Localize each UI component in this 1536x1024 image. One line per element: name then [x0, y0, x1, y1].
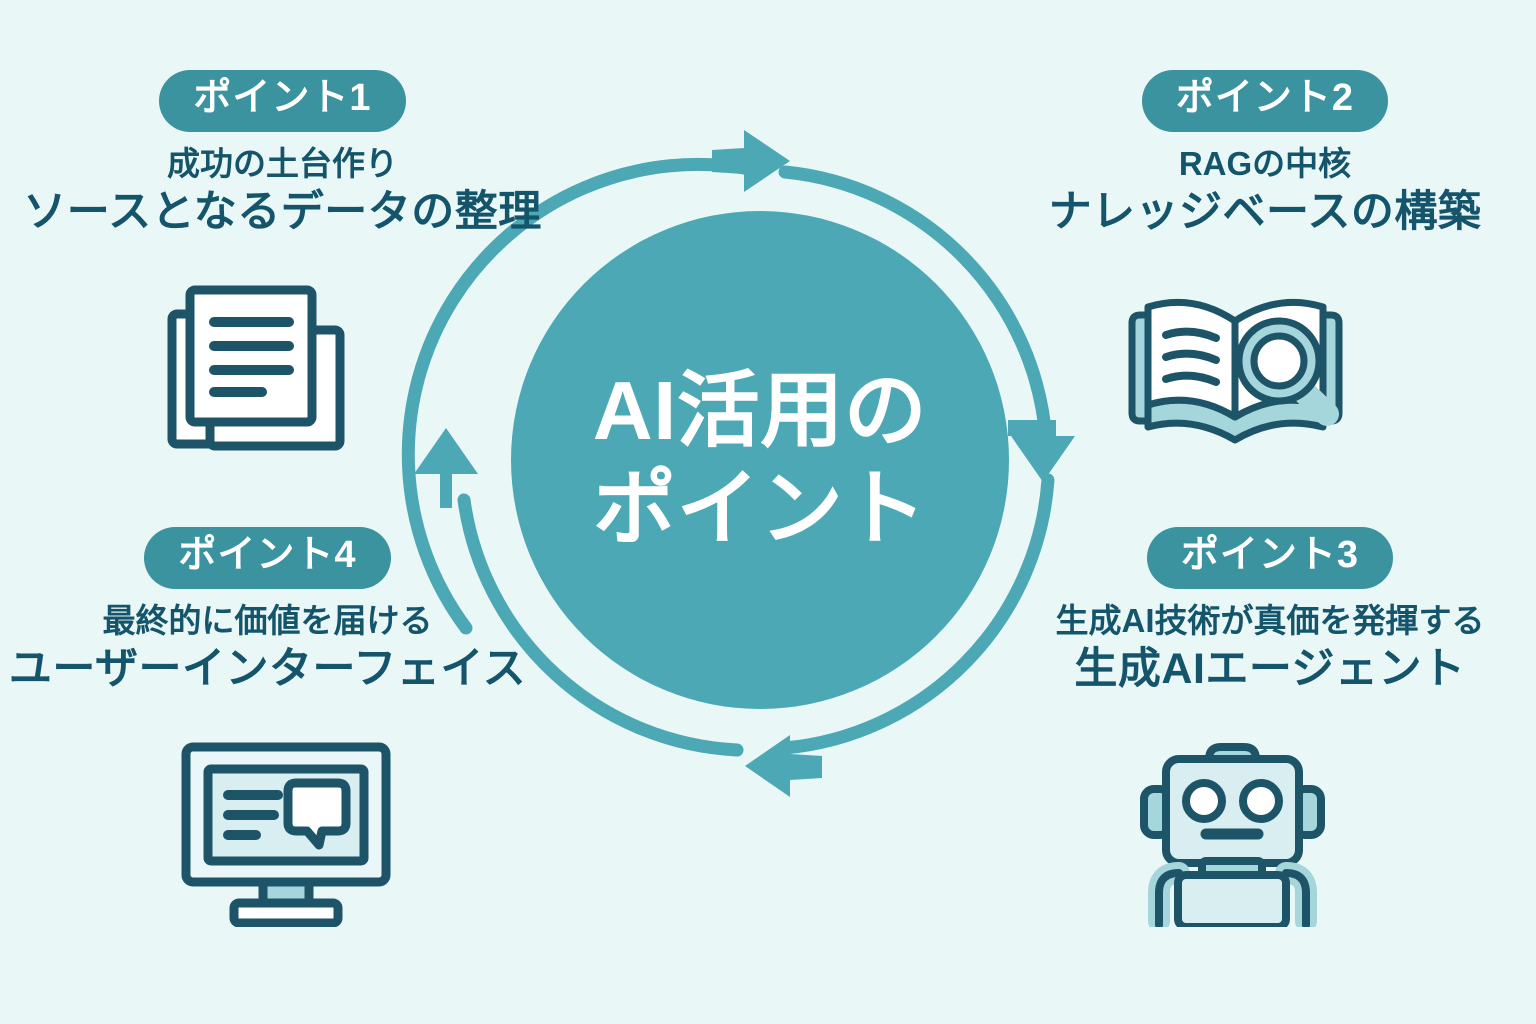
point-2-subtitle: RAGの中核 — [1179, 144, 1351, 184]
point-2-badge: ポイント2 — [1142, 70, 1388, 132]
point-4-title: ユーザーインターフェイス — [9, 644, 526, 696]
book-page-left — [1148, 302, 1235, 417]
bottom-arrow-left-icon — [745, 735, 822, 797]
point-4-badge: ポイント4 — [144, 527, 390, 589]
book-search-icon — [1118, 283, 1353, 455]
monitor-base — [234, 903, 338, 923]
center-hub: AI活用の ポイント — [511, 211, 1009, 709]
point-1-badge: ポイント1 — [159, 70, 405, 132]
robot-eye-right — [1243, 783, 1279, 819]
right-arrow-down-icon — [1008, 420, 1075, 482]
robot-eye-left — [1186, 783, 1222, 819]
point-1-title: ソースとなるデータの整理 — [23, 187, 542, 239]
documents-icon — [150, 272, 370, 462]
point-4-subtitle: 最終的に価値を届ける — [103, 601, 433, 641]
point-2-title: ナレッジベースの構築 — [1049, 187, 1482, 239]
magnifier-lens — [1254, 336, 1304, 386]
infographic-canvas: AI活用の ポイント ポイント1 成功の土台作り ソースとなるデータの整理 ポイ… — [0, 0, 1536, 1024]
point-3-title: 生成AIエージェント — [1074, 644, 1465, 696]
top-arrow-right-icon — [712, 130, 790, 192]
document-front-sheet — [190, 290, 312, 422]
robot-icon — [1130, 735, 1335, 927]
point-block-2: ポイント2 RAGの中核 ナレッジベースの構築 — [1020, 70, 1510, 239]
point-1-subtitle: 成功の土台作り — [167, 144, 398, 184]
monitor-chat-icon — [168, 735, 413, 927]
hub-title-line-2: ポイント — [593, 460, 927, 558]
hub-title-line-1: AI活用の — [593, 362, 928, 460]
point-block-3: ポイント3 生成AI技術が真価を発揮する 生成AIエージェント — [1030, 527, 1510, 696]
left-arrow-up-icon — [414, 428, 478, 508]
point-block-4: ポイント4 最終的に価値を届ける ユーザーインターフェイス — [10, 527, 525, 696]
point-3-badge: ポイント3 — [1147, 527, 1393, 589]
robot-body — [1178, 875, 1286, 927]
point-3-subtitle: 生成AI技術が真価を発揮する — [1056, 601, 1485, 641]
point-block-1: ポイント1 成功の土台作り ソースとなるデータの整理 — [30, 70, 535, 239]
